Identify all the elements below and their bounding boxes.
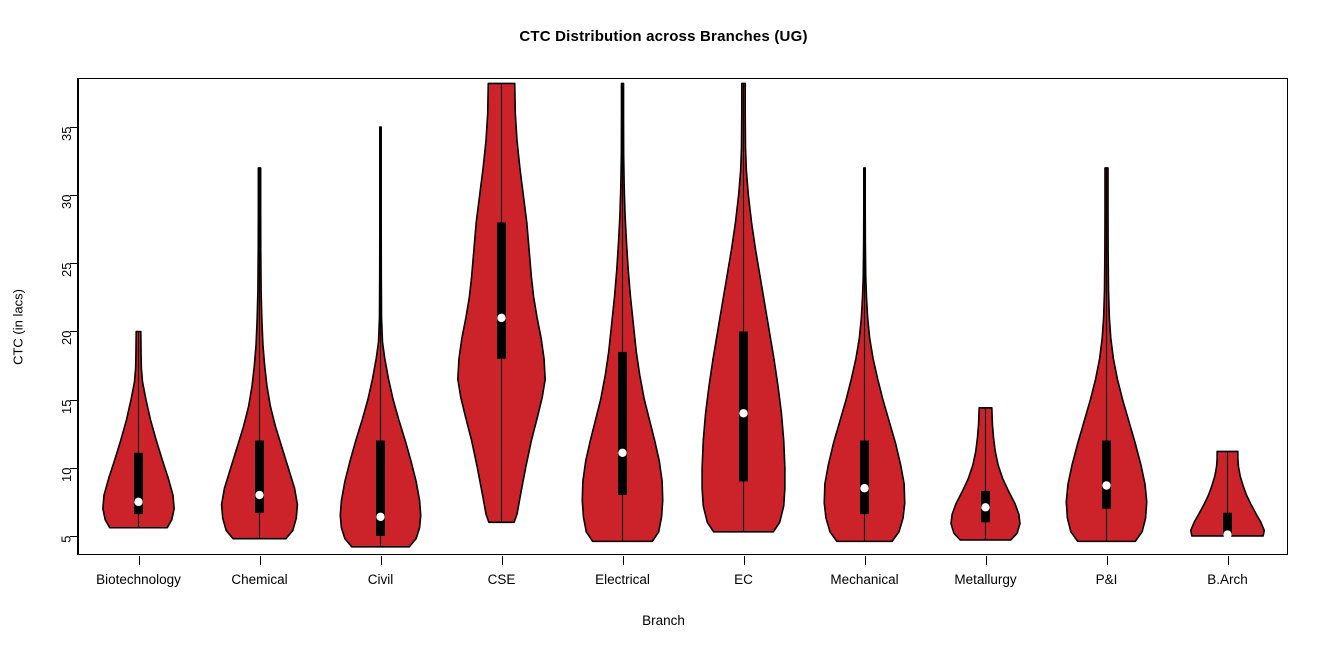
violin-median-point [497,314,505,322]
x-tick-label-b-arch: B.Arch [1207,572,1248,588]
violin-median-point [981,503,989,511]
page-title: CTC Distribution across Branches (UG) [0,28,1327,45]
y-tick-label: 5 [60,535,73,542]
y-tick-label: 15 [60,399,73,413]
violin-iqr-box [1102,441,1111,509]
plot-area [78,78,1288,555]
violin-p-i [1066,168,1146,541]
x-tick-label-p-i: P&I [1096,572,1118,588]
x-tick-mark [502,556,503,565]
x-tick-mark [986,556,987,565]
x-tick-mark [139,556,140,565]
y-tick-label: 20 [60,331,73,345]
x-tick-mark [1228,556,1229,565]
x-axis-title: Branch [0,613,1327,628]
x-tick-label-metallurgy: Metallurgy [954,572,1016,588]
violin-median-point [1102,481,1110,489]
y-tick-label: 10 [60,467,73,481]
violin-iqr-box [255,441,264,513]
x-tick-label-biotechnology: Biotechnology [96,572,181,588]
x-tick-mark [381,556,382,565]
x-tick-label-chemical: Chemical [231,572,287,588]
violin-civil [340,127,420,547]
violin-plot-canvas [78,78,1288,555]
violin-biotechnology [103,331,174,527]
x-tick-mark [865,556,866,565]
x-tick-mark [260,556,261,565]
violin-chemical [222,168,298,539]
violin-median-point [255,491,263,499]
y-axis: CTC (in lacs) 5101520253035 [0,0,78,653]
x-tick-mark [744,556,745,565]
violin-ec [702,83,785,531]
violin-median-point [618,449,626,457]
x-tick-label-civil: Civil [368,572,394,588]
violin-b-arch [1191,451,1265,538]
y-tick-label: 30 [60,195,73,209]
x-tick-mark [1107,556,1108,565]
violin-median-point [376,513,384,521]
violin-chart-page: CTC Distribution across Branches (UG) CT… [0,0,1327,653]
x-tick-label-ec: EC [734,572,753,588]
y-tick-label: 25 [60,263,73,277]
violin-cse [458,83,545,522]
violin-median-point [134,498,142,506]
violin-median-point [739,409,747,417]
violin-iqr-box [739,331,748,481]
violin-iqr-box [376,441,385,536]
violin-electrical [582,83,662,541]
violin-iqr-box [860,441,869,515]
x-tick-label-electrical: Electrical [595,572,650,588]
x-tick-mark [623,556,624,565]
violin-mechanical [824,168,904,541]
violin-median-point [1223,530,1231,538]
violin-median-point [860,484,868,492]
violin-iqr-box [497,222,506,358]
y-tick-label: 35 [60,127,73,141]
violin-iqr-box [618,352,627,495]
x-tick-label-cse: CSE [488,572,516,588]
y-axis-title: CTC (in lacs) [11,257,26,397]
x-tick-label-mechanical: Mechanical [830,572,898,588]
violin-metallurgy [951,408,1020,540]
